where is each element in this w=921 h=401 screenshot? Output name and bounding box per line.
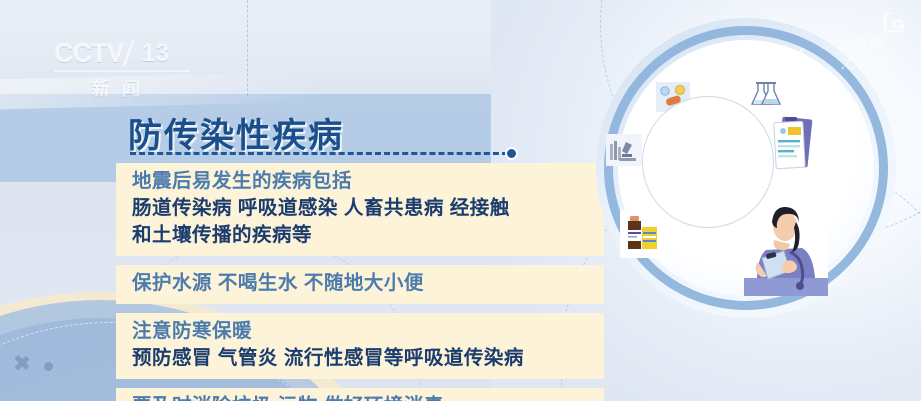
corner-bracket-icon <box>883 12 905 32</box>
info-block-line: 肠道传染病 呼吸道感染 人畜共患病 经接触 <box>132 195 590 222</box>
info-block-heading: 注意防寒保暖 <box>132 318 590 345</box>
info-block: 保护水源 不喝生水 不随地大小便 <box>116 265 604 304</box>
page-title: 防传染性疾病 <box>128 108 344 157</box>
info-block: 要及时消除垃圾 污物 做好环境消毒 <box>116 388 604 401</box>
medical-ring-graphic <box>596 18 896 318</box>
microscope-icon <box>606 134 642 166</box>
decorative-dashed-line <box>247 0 248 96</box>
clipboard-icon <box>772 114 814 174</box>
info-block: 注意防寒保暖预防感冒 气管炎 流行性感冒等呼吸道传染病 <box>116 313 604 379</box>
flasks-icon <box>748 78 788 112</box>
dot-mark-icon <box>44 362 53 371</box>
info-block-line: 和土壤传播的疾病等 <box>132 222 590 249</box>
info-block-heading: 要及时消除垃圾 污物 做好环境消毒 <box>132 393 590 401</box>
info-block: 地震后易发生的疾病包括肠道传染病 呼吸道感染 人畜共患病 经接触和土壤传播的疾病… <box>116 163 604 256</box>
logo-subtitle: 新闻 <box>54 75 190 101</box>
title-end-dot-icon <box>505 147 518 160</box>
title-dashed-rule <box>130 152 508 155</box>
logo-channel-number: 13 <box>142 39 170 68</box>
logo-cctv-text: CCTV <box>54 38 124 68</box>
ring-center-circle <box>642 96 774 228</box>
info-block-heading: 保护水源 不喝生水 不随地大小便 <box>132 270 590 297</box>
logo-underline <box>54 70 190 72</box>
info-block-heading: 地震后易发生的疾病包括 <box>132 168 590 195</box>
info-block-line: 预防感冒 气管炎 流行性感冒等呼吸道传染病 <box>132 345 590 372</box>
medicine-bottles-icon <box>620 210 666 258</box>
info-blocks: 地震后易发生的疾病包括肠道传染病 呼吸道感染 人畜共患病 经接触和土壤传播的疾病… <box>116 163 604 401</box>
broadcast-graphic-screen: CCTV 13 新闻 防传染性疾病 地震后易发生的疾病包括肠道传染病 呼吸道感染… <box>0 0 921 401</box>
cctv13-logo: CCTV 13 新闻 <box>54 38 202 94</box>
nurse-illustration <box>744 196 828 296</box>
